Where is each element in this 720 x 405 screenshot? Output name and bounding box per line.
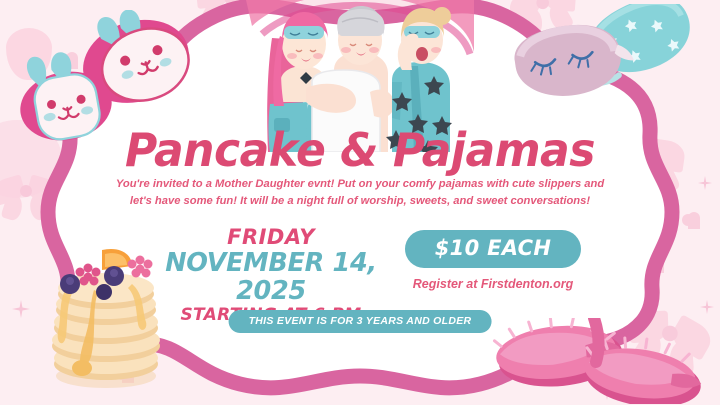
fluffy-pink-slippers-illustration — [490, 318, 710, 404]
event-description: You're invited to a Mother Daughter evnt… — [110, 176, 610, 210]
price-block: $10 EACH Register at Firstdenton.org — [400, 230, 586, 291]
event-day: FRIDAY — [140, 226, 402, 249]
event-flyer: Pancake & Pajamas You're invited to a Mo… — [0, 0, 720, 405]
sleep-masks-illustration — [502, 4, 714, 124]
registration-link[interactable]: Register at Firstdenton.org — [400, 277, 586, 291]
page-title: Pancake & Pajamas — [0, 127, 720, 176]
age-requirement-badge: THIS EVENT IS FOR 3 YEARS AND OLDER — [229, 310, 492, 333]
event-date: NOVEMBER 14, 2025 — [140, 249, 402, 305]
price-badge: $10 EACH — [405, 230, 582, 268]
